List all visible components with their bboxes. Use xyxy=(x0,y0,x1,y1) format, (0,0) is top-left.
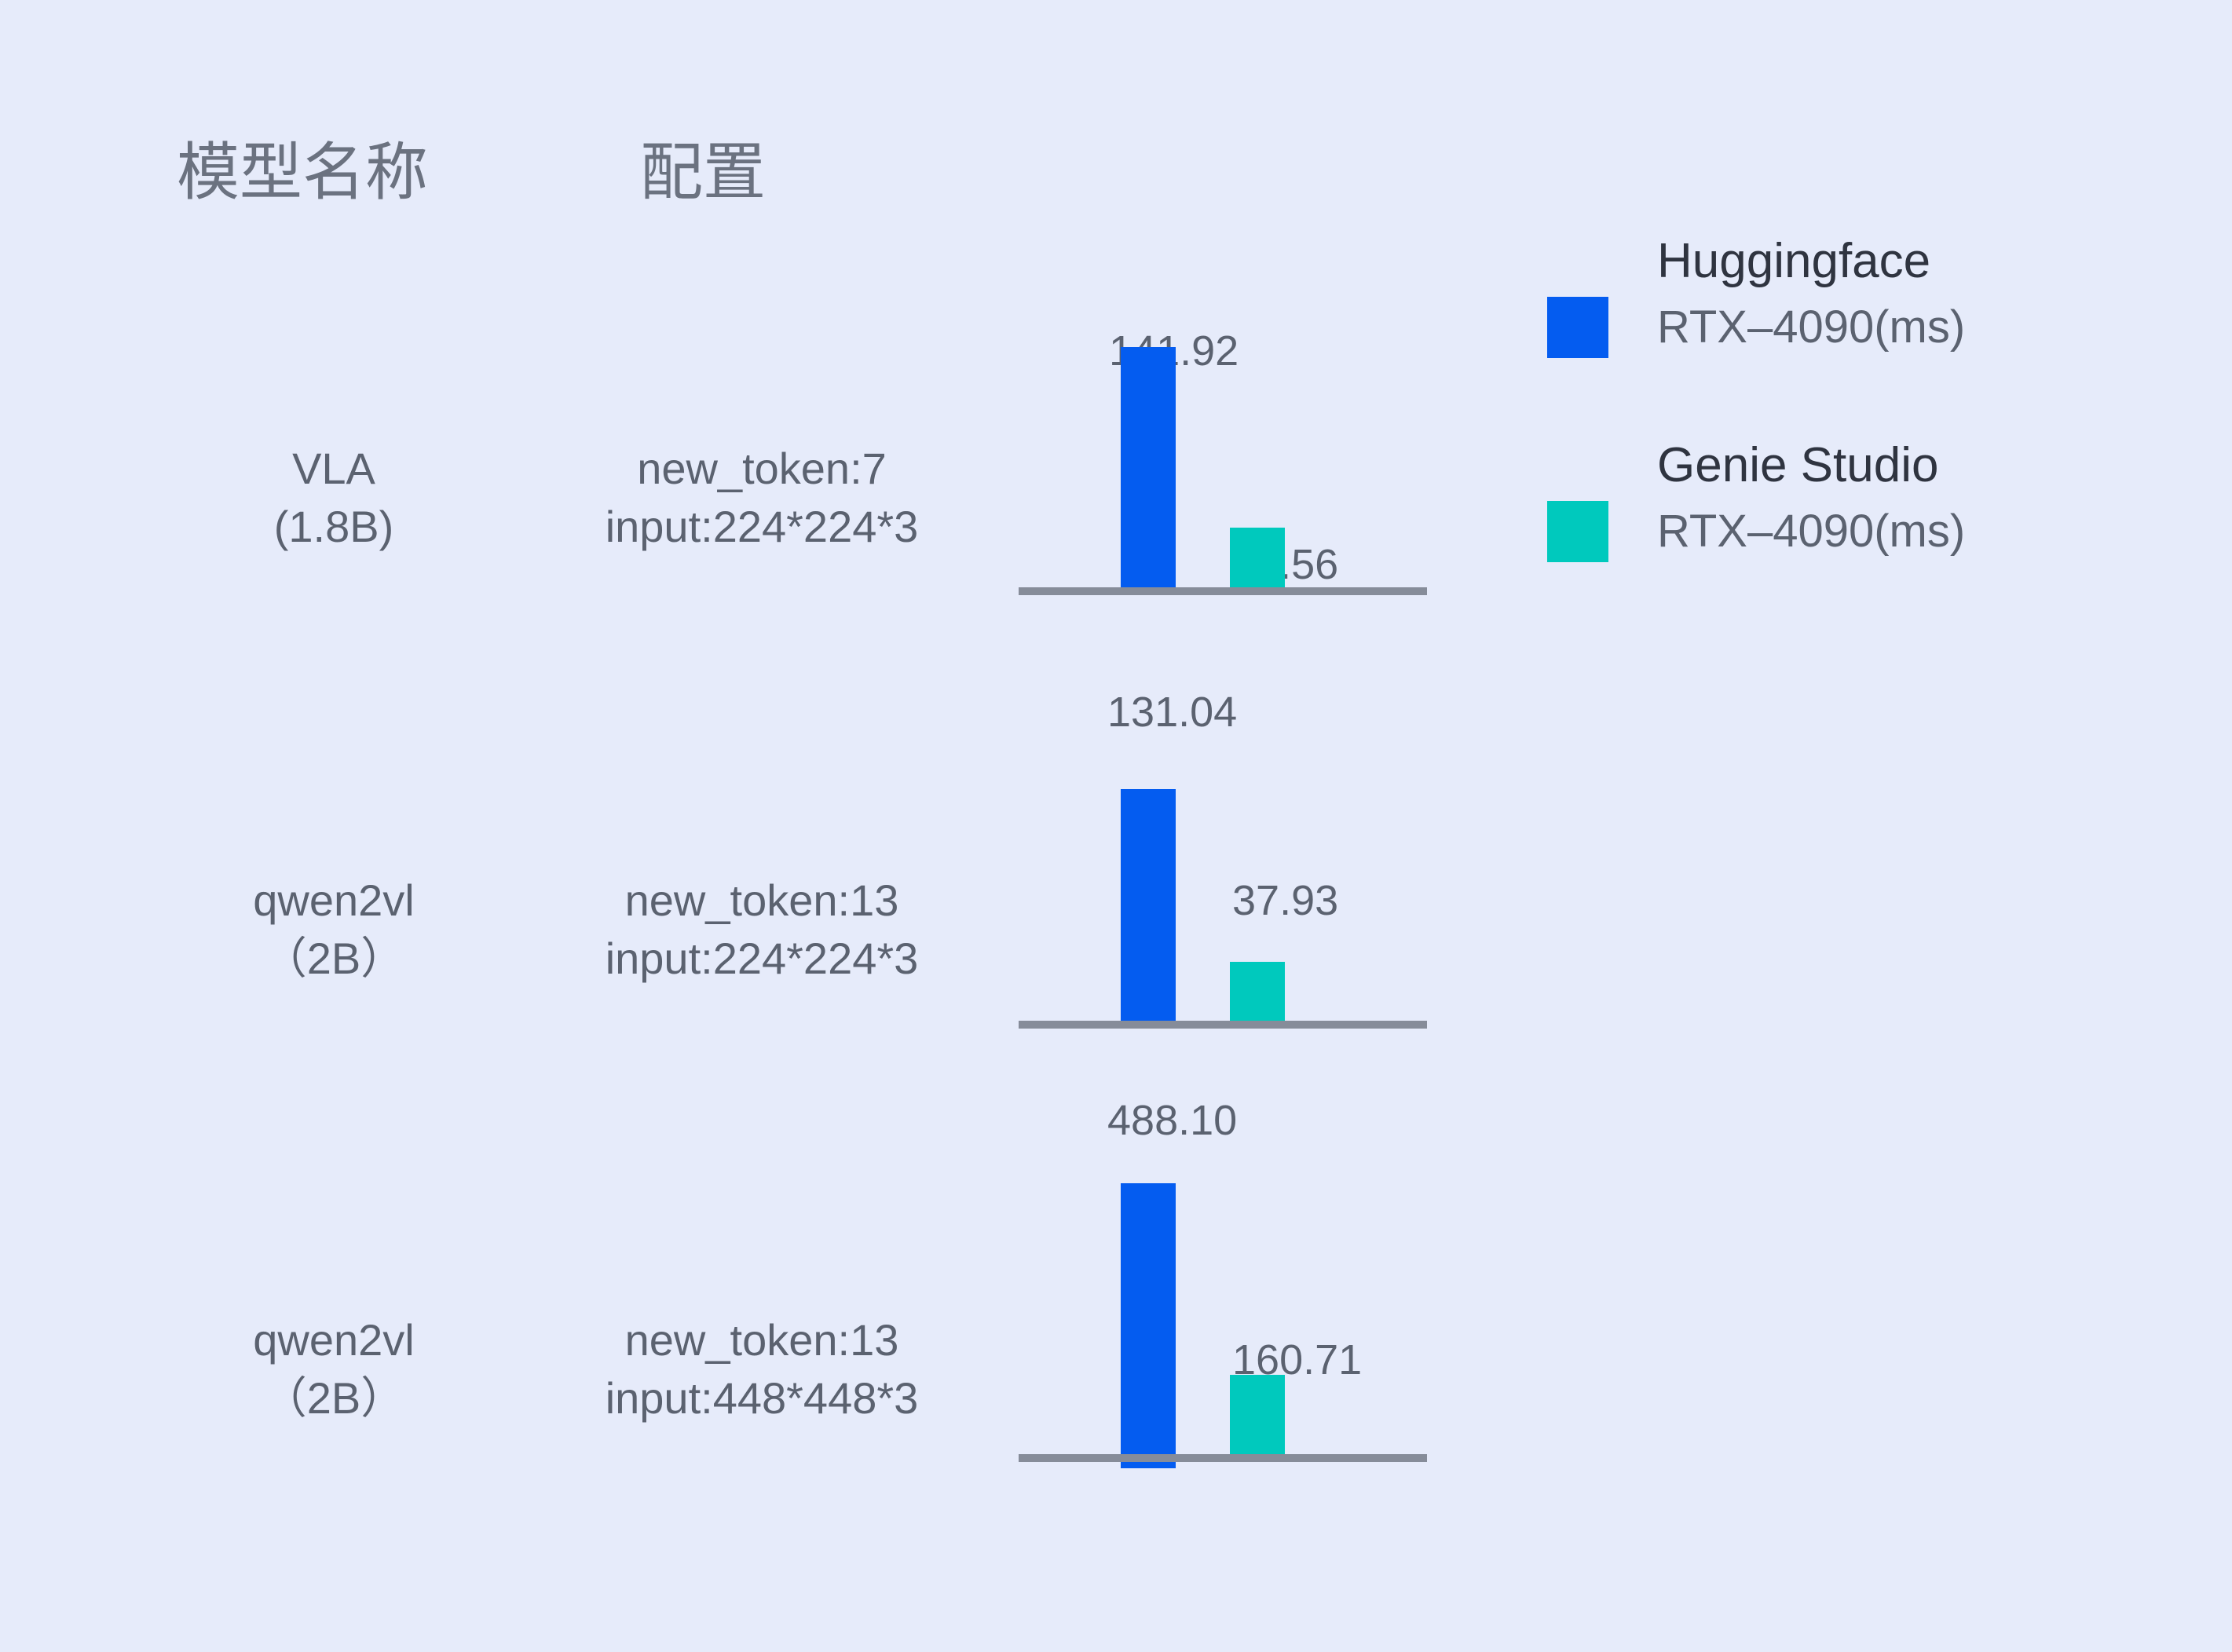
legend-swatch-icon xyxy=(1547,501,1608,562)
panel-baseline xyxy=(1019,1021,1427,1029)
legend-title: Huggingface xyxy=(1657,236,2175,287)
legend-item-huggingface[interactable]: Huggingface RTX–4090(ms) xyxy=(1547,236,2175,440)
panel-baseline xyxy=(1019,587,1427,595)
chart-panel-row-3: 488.10 160.71 xyxy=(1019,1099,1427,1468)
row-model-name: qwen2vl （2B） xyxy=(169,872,499,988)
legend-title: Genie Studio xyxy=(1657,440,2175,491)
legend-item-genie-studio[interactable]: Genie Studio RTX–4090(ms) xyxy=(1547,440,2175,644)
row-config: new_token:13 input:448*448*3 xyxy=(510,1311,1013,1427)
bar-huggingface[interactable] xyxy=(1121,1183,1176,1468)
bar-huggingface[interactable] xyxy=(1121,789,1176,1021)
panel-baseline xyxy=(1019,1454,1427,1462)
bar-value-label-huggingface: 131.04 xyxy=(1107,691,1237,733)
column-header-model-name: 模型名称 xyxy=(177,141,428,204)
row-model-name: VLA (1.8B) xyxy=(169,440,499,556)
bar-genie-studio[interactable] xyxy=(1230,528,1285,587)
chart-canvas: 模型名称 配置 VLA (1.8B) new_token:7 input:224… xyxy=(0,0,2232,1652)
bar-value-label-genie-studio: 37.93 xyxy=(1232,879,1338,922)
bar-huggingface[interactable] xyxy=(1121,347,1176,587)
bar-genie-studio[interactable] xyxy=(1230,1375,1285,1462)
bar-value-label-huggingface: 488.10 xyxy=(1107,1099,1237,1142)
row-config: new_token:13 input:224*224*3 xyxy=(510,872,1013,988)
row-model-name: qwen2vl （2B） xyxy=(169,1311,499,1427)
chart-panel-row-2: 131.04 37.93 xyxy=(1019,691,1427,1029)
legend-swatch-icon xyxy=(1547,297,1608,358)
legend-subtitle: RTX–4090(ms) xyxy=(1657,508,2175,556)
column-header-config: 配置 xyxy=(640,141,766,204)
chart-panel-row-1: 141.92 36.56 xyxy=(1019,330,1427,597)
legend: Huggingface RTX–4090(ms) Genie Studio RT… xyxy=(1547,236,2175,644)
row-config: new_token:7 input:224*224*3 xyxy=(510,440,1013,556)
legend-subtitle: RTX–4090(ms) xyxy=(1657,304,2175,352)
bar-genie-studio[interactable] xyxy=(1230,962,1285,1021)
